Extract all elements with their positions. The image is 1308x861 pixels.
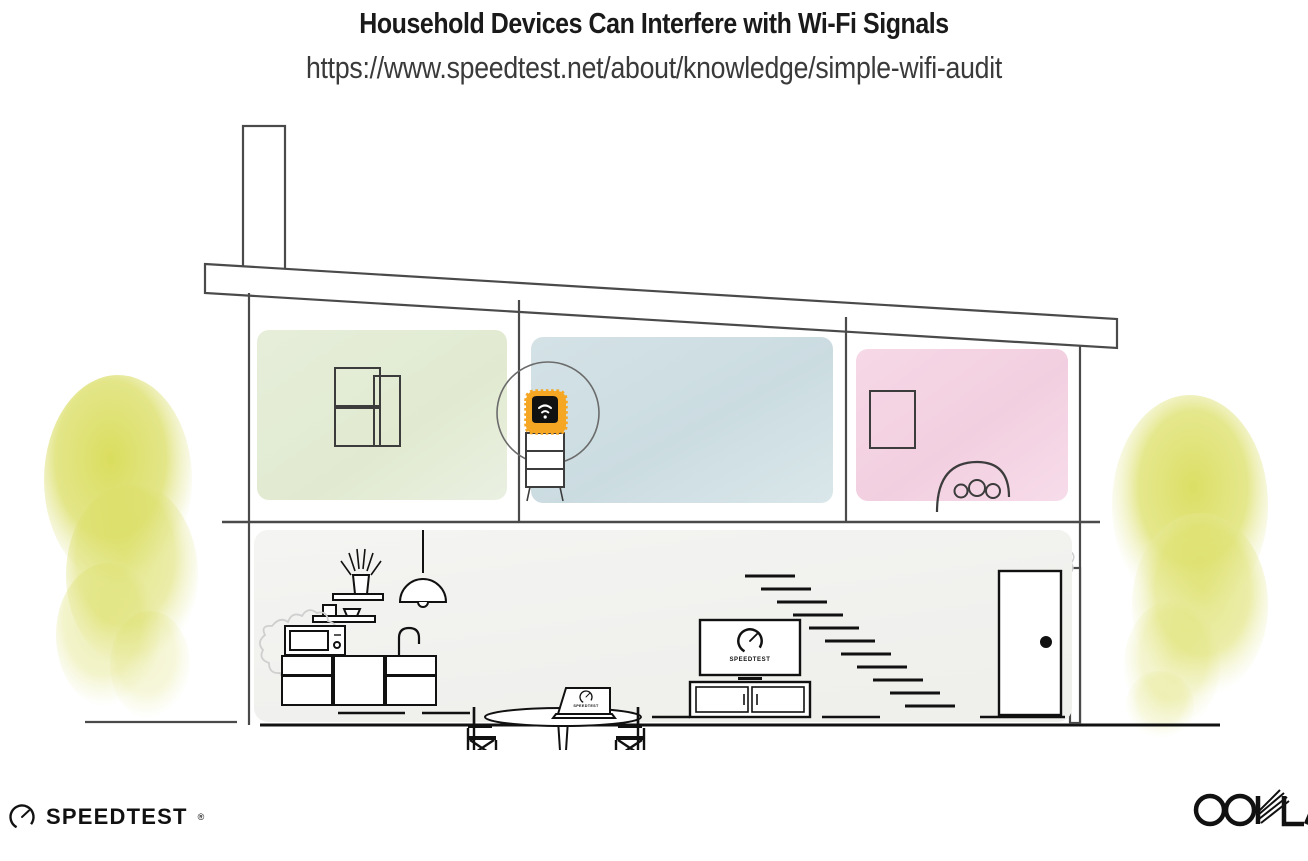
source-url: https://www.speedtest.net/about/knowledg… bbox=[92, 50, 1217, 86]
page-title: Household Devices Can Interfere with Wi-… bbox=[92, 8, 1217, 41]
room-wall-blue bbox=[531, 337, 833, 503]
speedtest-logo[interactable]: SPEEDTEST ® bbox=[8, 803, 204, 831]
room-wall-green bbox=[257, 330, 507, 500]
speedtest-wordmark: SPEEDTEST bbox=[46, 804, 188, 830]
front-door[interactable] bbox=[999, 571, 1061, 715]
speedtest-trademark: ® bbox=[198, 812, 205, 822]
speedtest-gauge-icon bbox=[8, 803, 36, 831]
tree-left bbox=[44, 375, 198, 719]
chimney bbox=[243, 126, 285, 276]
room-wall-pink bbox=[856, 349, 1068, 501]
tree-right bbox=[1112, 395, 1268, 739]
laptop-screen-label: SPEEDTEST bbox=[573, 704, 599, 708]
ookla-logo[interactable] bbox=[1188, 788, 1308, 837]
wifi-router-icon[interactable] bbox=[526, 391, 566, 433]
media-console bbox=[690, 682, 810, 717]
house-cutaway-illustration: SPEEDTEST bbox=[0, 105, 1308, 750]
poster-canvas: Household Devices Can Interfere with Wi-… bbox=[0, 0, 1308, 861]
door-knob bbox=[1041, 637, 1051, 647]
tv-screen-label: SPEEDTEST bbox=[729, 657, 770, 663]
ookla-wordmark-icon bbox=[1188, 788, 1308, 832]
